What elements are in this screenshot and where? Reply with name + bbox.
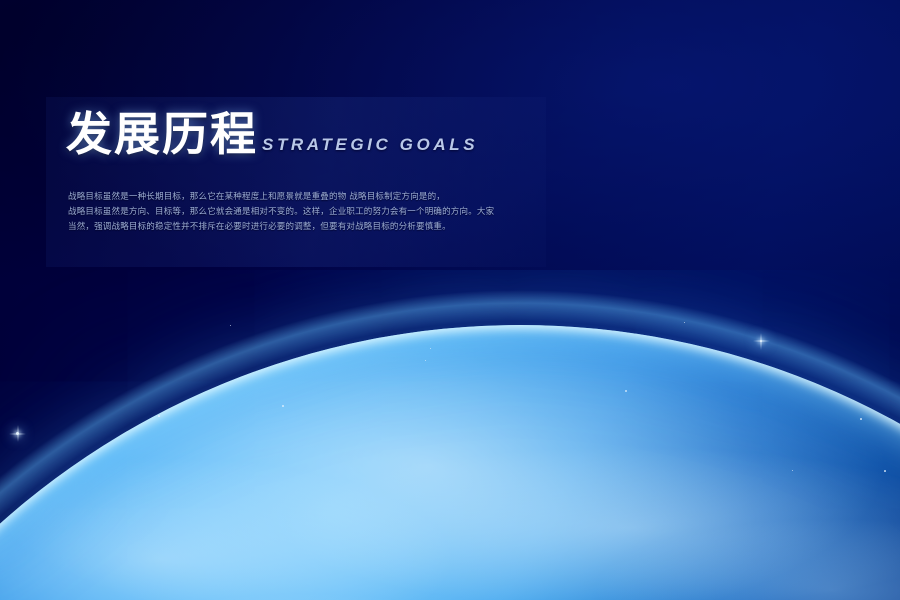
- body-paragraphs: 战略目标虽然是一种长期目标，那么它在某种程度上和愿景就是重叠的物 战略目标制定方…: [68, 190, 530, 235]
- body-line-3: 当然，强调战略目标的稳定性并不排斥在必要时进行必要的调整，但要有对战略目标的分析…: [68, 220, 530, 235]
- title-chinese: 发展历程: [66, 112, 258, 158]
- banner-stage: 发展历程 STRATEGIC GOALS 战略目标虽然是一种长期目标，那么它在某…: [0, 0, 900, 600]
- earth-region: [0, 270, 900, 600]
- title-english: STRATEGIC GOALS: [262, 135, 478, 158]
- earth-globe: [0, 325, 900, 600]
- body-line-1: 战略目标虽然是一种长期目标，那么它在某种程度上和愿景就是重叠的物 战略目标制定方…: [68, 190, 530, 205]
- page-title: 发展历程 STRATEGIC GOALS: [66, 112, 478, 158]
- body-line-2: 战略目标虽然是方向、目标等，那么它就会通是相对不变的。这样，企业职工的努力会有一…: [68, 205, 530, 220]
